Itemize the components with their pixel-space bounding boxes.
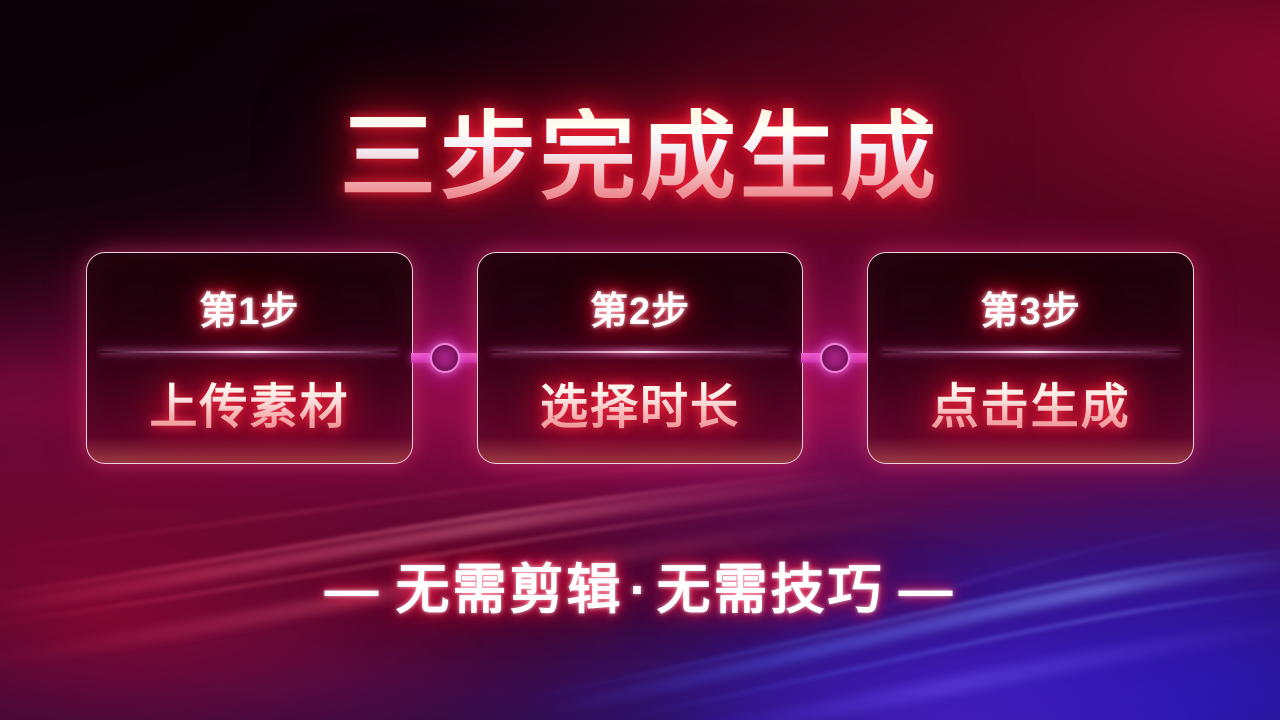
page-title: 三步完成生成 bbox=[340, 108, 940, 208]
step-card-3[interactable]: 第3步 点击生成 bbox=[867, 252, 1194, 464]
step-card-2[interactable]: 第2步 选择时长 bbox=[477, 252, 804, 464]
promo-slide: 三步完成生成 第1步 上传素材 第2步 bbox=[0, 0, 1280, 720]
tagline-part-two: 无需技巧 bbox=[656, 560, 884, 620]
tagline-separator: · bbox=[630, 560, 651, 620]
step-3-divider-beam bbox=[868, 345, 1193, 359]
connector-node-2 bbox=[820, 343, 850, 373]
connector-1-2 bbox=[413, 328, 477, 388]
step-1-number: 第1步 bbox=[199, 280, 299, 335]
tagline-right-dash: — bbox=[898, 560, 955, 620]
steps-row: 第1步 上传素材 第2步 选择时长 bbox=[86, 252, 1194, 464]
step-3-action: 点击生成 bbox=[931, 367, 1131, 437]
step-2-action: 选择时长 bbox=[540, 367, 740, 437]
connector-2-3 bbox=[803, 328, 867, 388]
step-2-divider-beam bbox=[478, 345, 803, 359]
step-card-1[interactable]: 第1步 上传素材 bbox=[86, 252, 413, 464]
tagline-part-one: 无需剪辑 bbox=[396, 560, 624, 620]
title-container: 三步完成生成 bbox=[0, 44, 1280, 272]
step-1-divider-beam bbox=[87, 345, 412, 359]
tagline-left-dash: — bbox=[325, 560, 382, 620]
step-1-action: 上传素材 bbox=[149, 367, 349, 437]
tagline: —无需剪辑·无需技巧— bbox=[311, 545, 970, 624]
step-2-number: 第2步 bbox=[590, 280, 690, 335]
step-3-number: 第3步 bbox=[981, 280, 1081, 335]
connector-node-1 bbox=[430, 343, 460, 373]
tagline-container: —无需剪辑·无需技巧— bbox=[0, 545, 1280, 624]
